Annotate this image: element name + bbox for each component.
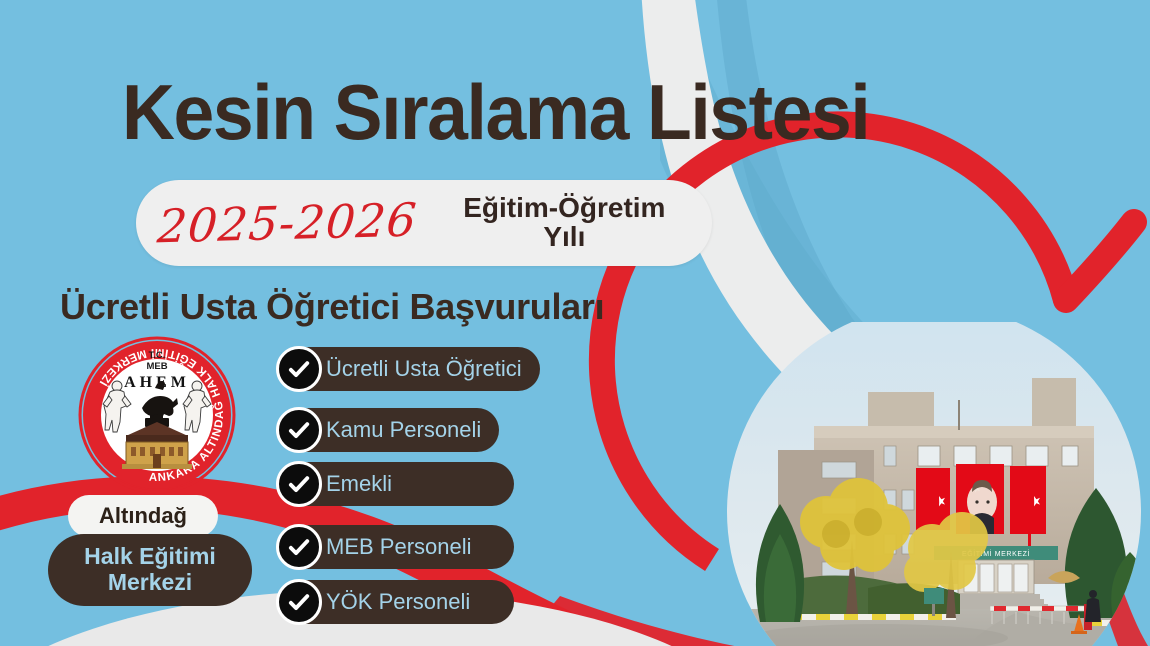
svg-text:T.C.: T.C. bbox=[149, 350, 166, 361]
center-name-pill: Halk Eğitimi Merkezi bbox=[48, 534, 252, 606]
academic-year-label-line1: Eğitim-Öğretim bbox=[425, 194, 704, 223]
checklist-item-label: Ücretli Usta Öğretici bbox=[326, 356, 522, 382]
building-photo-graphic: EĞİTİMİ MERKEZİ bbox=[718, 322, 1150, 646]
checklist-item-label: YÖK Personeli bbox=[326, 589, 470, 615]
academic-year-label: Eğitim-Öğretim Yılı bbox=[425, 194, 712, 251]
svg-text:MEB: MEB bbox=[146, 361, 167, 372]
checklist-item-label: Kamu Personeli bbox=[326, 417, 481, 443]
checklist-item-ucretli-usta-ogretici[interactable]: Ücretli Usta Öğretici bbox=[282, 347, 540, 391]
ahem-logo-graphic: ANKARA ALTINDAĞ HALK EĞİTİMİ MERKEZİ T.C… bbox=[72, 330, 242, 500]
check-circle-icon bbox=[276, 579, 322, 625]
check-circle-icon bbox=[276, 407, 322, 453]
academic-year-pill: 2025-2026 Eğitim-Öğretim Yılı bbox=[136, 180, 712, 266]
check-circle-icon bbox=[276, 461, 322, 507]
building-photo: EĞİTİMİ MERKEZİ bbox=[718, 322, 1150, 646]
checklist-item-meb-personeli[interactable]: MEB Personeli bbox=[282, 525, 514, 569]
check-circle-icon bbox=[276, 524, 322, 570]
page-title: Kesin Sıralama Listesi bbox=[122, 72, 869, 154]
poster-canvas: Kesin Sıralama Listesi 2025-2026 Eğitim-… bbox=[0, 0, 1150, 646]
academic-year-value: 2025-2026 bbox=[156, 193, 420, 254]
checklist-item-emekli[interactable]: Emekli bbox=[282, 462, 514, 506]
ahem-logo: ANKARA ALTINDAĞ HALK EĞİTİMİ MERKEZİ T.C… bbox=[72, 330, 242, 500]
checklist-item-label: Emekli bbox=[326, 471, 392, 497]
checklist-item-kamu-personeli[interactable]: Kamu Personeli bbox=[282, 408, 499, 452]
center-name-line2: Merkezi bbox=[108, 570, 192, 596]
subtitle: Ücretli Usta Öğretici Başvuruları bbox=[60, 286, 604, 328]
center-name-line1: Halk Eğitimi bbox=[84, 544, 216, 570]
district-pill: Altındağ bbox=[68, 495, 218, 537]
checklist-item-yok-personeli[interactable]: YÖK Personeli bbox=[282, 580, 514, 624]
checklist-item-label: MEB Personeli bbox=[326, 534, 472, 560]
academic-year-label-line2: Yılı bbox=[425, 223, 704, 252]
check-circle-icon bbox=[276, 346, 322, 392]
